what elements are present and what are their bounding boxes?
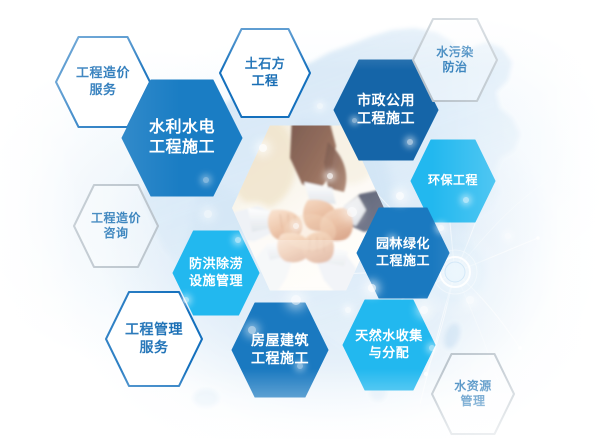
hexagon-label-line: 水利水电 [149,118,215,138]
hexagon-label-line: 工程施工 [251,350,309,368]
hexagon-label-line: 工程施工 [149,138,215,158]
hexagon-label-line: 防洪除涝 [189,256,243,273]
hexagon-label-line: 设施管理 [189,273,243,290]
hexagon-engineering-management-service[interactable]: 工程管理服务 [104,290,204,388]
hexagon-label-line: 服务 [89,82,116,99]
hexagon-natural-water-collection-distribution[interactable]: 天然水收集与分配 [341,298,437,392]
infographic-canvas: 工程造价服务土石方工程水利水电工程施工市政公用工程施工水污染防治环保工程工程造价… [0,0,600,439]
hexagon-label: 园林绿化工程施工 [355,206,451,300]
hexagon-label: 工程管理服务 [104,290,204,388]
hexagon-label-line: 土石方 [245,56,286,73]
hexagon-label: 水利水电工程施工 [120,78,244,198]
hexagon-label-line: 管理 [460,394,485,409]
hexagon-label: 水资源管理 [430,352,516,436]
hexagon-landscape-greening-construction[interactable]: 园林绿化工程施工 [355,206,451,300]
hexagon-label-line: 工程 [251,73,278,90]
hexagon-label: 天然水收集与分配 [341,298,437,392]
hexagon-label-line: 园林绿化 [376,236,430,253]
hexagon-water-resources-management[interactable]: 水资源管理 [430,352,516,436]
hexagon-label: 水污染防治 [411,17,499,103]
hexagon-label: 房屋建筑工程施工 [230,301,330,399]
hexagon-label-line: 房屋建筑 [251,332,309,350]
hexagon-label-line: 水污染 [436,45,474,60]
hexagon-label-line: 工程造价 [91,211,141,226]
hexagon-label-line: 服务 [140,339,169,357]
hexagon-label-line: 咨询 [103,226,128,241]
hexagon-water-pollution-control[interactable]: 水污染防治 [411,17,499,103]
hexagon-water-conservancy-hydropower-construction[interactable]: 水利水电工程施工 [120,78,244,198]
hexagon-engineering-cost-consulting[interactable]: 工程造价咨询 [72,183,160,269]
hexagon-label-line: 工程施工 [357,110,415,128]
hexagon-label-line: 工程施工 [376,253,430,270]
hexagon-label-line: 水资源 [454,379,492,394]
hexagon-label-line: 与分配 [369,345,410,362]
hexagon-label-line: 市政公用 [357,92,415,110]
hexagon-label-line: 工程管理 [125,321,183,339]
hexagon-label-line: 防治 [442,60,467,75]
hexagon-label-line: 环保工程 [428,173,478,188]
hexagon-label-line: 天然水收集 [355,328,423,345]
hexagon-building-construction-works[interactable]: 房屋建筑工程施工 [230,301,330,399]
hexagon-label: 工程造价咨询 [72,183,160,269]
